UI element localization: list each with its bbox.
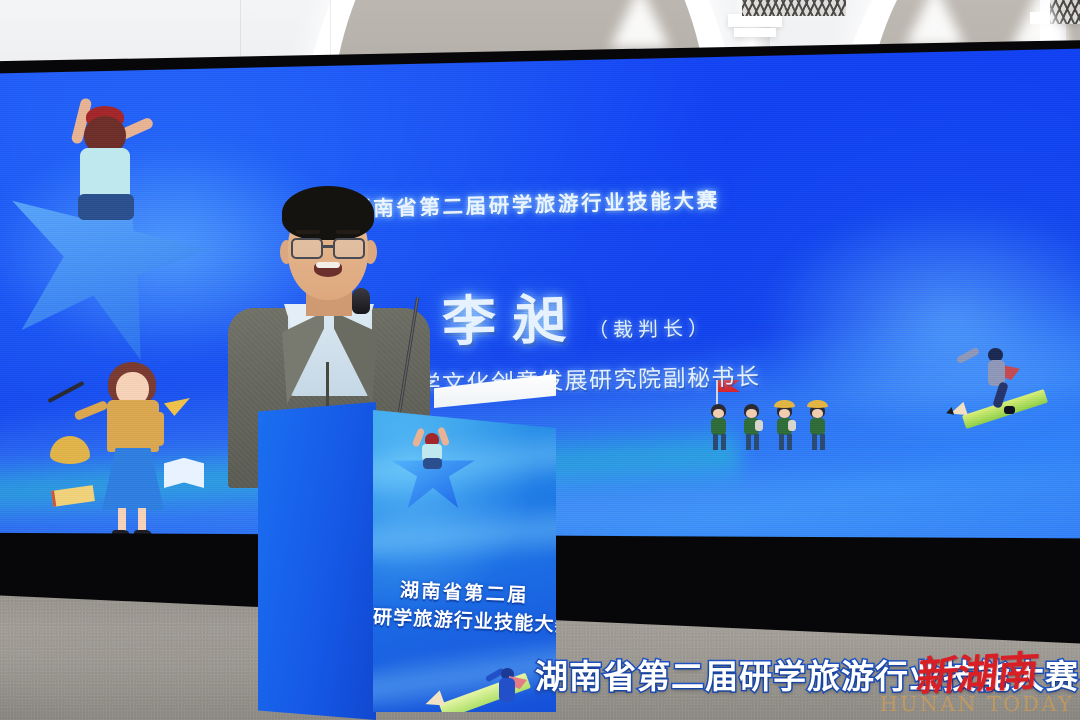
ceiling-grille [742,0,846,16]
child1-leg-left [713,434,718,450]
child4-body [810,418,825,435]
teacher-skirt [102,448,164,510]
child-torso [80,148,130,200]
teacher-arm-left [74,400,109,421]
podium-front-panel: 湖南省第二届 研学旅游行业技能大赛 [373,410,556,712]
child-figure-4 [805,396,831,454]
watermark-logo: 新湖南 HUNAN TODAY [880,655,1074,716]
child4-leg-right [820,434,825,450]
podium-side-panel [258,402,376,720]
rider-arm [956,347,980,364]
glasses-lens-left [291,238,323,259]
podium-child-pants [423,458,442,469]
teacher-arm-right [152,412,164,446]
led-speaker-role: （裁判长） [588,312,714,344]
child3-face [779,409,790,418]
child3-hat-icon [774,400,795,408]
speaker-brow-right [336,230,360,234]
cornice-center-2 [734,28,776,37]
led-speaker-name: 李昶 [441,275,583,357]
watermark-english: HUNAN TODAY [880,692,1074,716]
glasses-bridge [323,245,333,248]
paper-plane-icon [164,398,190,416]
book-open-icon [164,458,204,488]
glasses-lens-right [333,238,365,259]
child4-leg-left [812,434,817,450]
podium-wave-2 [373,496,556,573]
speaker-brow-left [296,230,320,234]
pencil-rider-icon [489,668,529,712]
microphone-head-icon [352,288,370,314]
child2-bag [755,420,763,431]
child4-face [812,409,823,418]
child1-leg-right [721,434,726,450]
child2-face [746,409,757,418]
child3-leg-left [779,434,784,450]
child3-leg-right [787,434,792,450]
podium-lectern: 湖南省第二届 研学旅游行业技能大赛 [258,392,556,720]
rider-boot [1004,406,1015,414]
tour-guide-teacher-icon [68,362,208,548]
child-figure-2 [739,396,765,454]
child2-leg-right [754,434,759,450]
child-on-pencil-icon [950,336,1070,446]
child-figure-3 [772,396,798,454]
child-pants [78,194,134,220]
child-on-star-icon [52,102,162,232]
podium-logo-child [413,424,455,472]
child3-bag [788,420,796,431]
child1-face [713,409,724,418]
podium-rider-body [499,678,515,702]
child1-body [711,418,726,435]
child4-hat-icon [807,400,828,408]
child-figure-1 [706,396,732,454]
straw-hat-icon [50,436,90,464]
child2-leg-left [746,434,751,450]
speaker-teeth [316,262,340,268]
study-tour-children-icon [706,396,831,454]
screenshot-canvas: 湖南省第二届研学旅游行业技能大赛 李昶 （裁判长） 清华大学文化创意发展研究院副… [0,0,1080,720]
